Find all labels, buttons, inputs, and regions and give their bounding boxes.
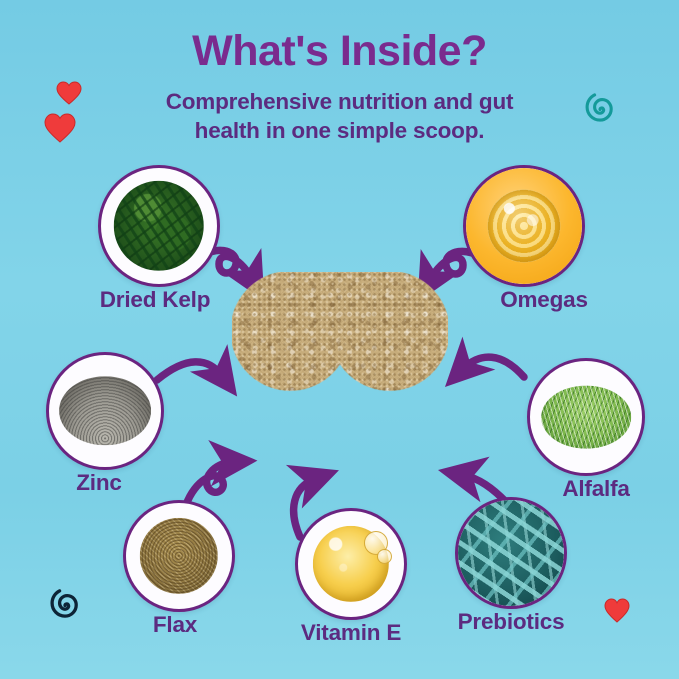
spiral-decoration-bottom-left — [48, 588, 82, 622]
spiral-decoration-top-right — [583, 92, 617, 126]
ingredient-dried-kelp[interactable]: Dried Kelp — [98, 165, 220, 287]
kelp-icon — [114, 181, 204, 271]
alfalfa-bubble[interactable] — [527, 358, 645, 476]
page-subtitle: Comprehensive nutrition and gut health i… — [0, 88, 679, 146]
center-powder-heart — [232, 272, 448, 490]
vitamin-e-bubble[interactable] — [295, 508, 407, 620]
vitamin-e-label: Vitamin E — [295, 620, 407, 646]
ingredient-flax[interactable]: Flax — [123, 500, 235, 612]
zinc-label: Zinc — [40, 470, 158, 496]
omegas-bubble[interactable] — [463, 165, 585, 287]
alfalfa-icon — [541, 386, 631, 449]
page-title: What's Inside? — [0, 27, 679, 76]
vitamin-e-bubble-small-icon — [377, 549, 392, 564]
flax-bubble[interactable] — [123, 500, 235, 612]
subtitle-line-2: health in one simple scoop. — [0, 117, 679, 146]
omega-oil-icon — [487, 189, 560, 262]
flax-seed-icon — [140, 518, 218, 594]
infographic-canvas: What's Inside? Comprehensive nutrition a… — [0, 0, 679, 679]
ingredient-alfalfa[interactable]: Alfalfa — [527, 358, 645, 476]
ingredient-omegas[interactable]: Omegas — [463, 165, 585, 287]
zinc-bubble[interactable] — [46, 352, 164, 470]
prebiotics-icon — [458, 500, 564, 606]
heart-decoration-bottom-right — [604, 598, 630, 623]
powder-heart-shape — [232, 272, 448, 490]
prebiotics-bubble[interactable] — [455, 497, 567, 609]
ingredient-prebiotics[interactable]: Prebiotics — [455, 497, 567, 609]
subtitle-line-1: Comprehensive nutrition and gut — [0, 88, 679, 117]
ingredient-zinc[interactable]: Zinc — [46, 352, 164, 470]
flax-label: Flax — [119, 612, 231, 638]
ingredient-vitamin-e[interactable]: Vitamin E — [295, 508, 407, 620]
prebiotics-label: Prebiotics — [455, 609, 567, 635]
heart-decoration-top-left-large — [44, 113, 76, 143]
dried-kelp-bubble[interactable] — [98, 165, 220, 287]
dried-kelp-label: Dried Kelp — [94, 287, 216, 313]
omegas-label: Omegas — [483, 287, 605, 313]
zinc-powder-icon — [59, 376, 151, 445]
heart-decoration-top-left-small — [56, 81, 82, 105]
